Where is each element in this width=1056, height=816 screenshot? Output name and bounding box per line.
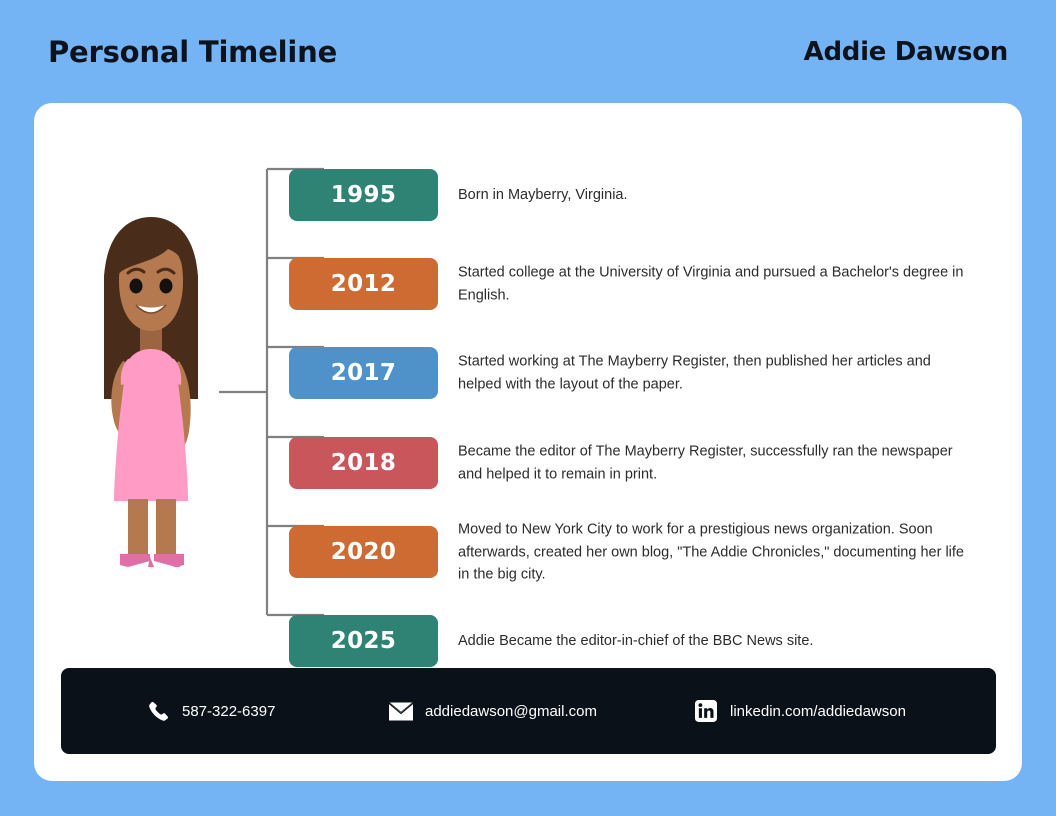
year-chip-2012[interactable]: 2012 — [289, 258, 438, 310]
year-chip-1995[interactable]: 1995 — [289, 169, 438, 221]
year-chip-2017[interactable]: 2017 — [289, 347, 438, 399]
phone-icon — [146, 699, 170, 723]
woman-illustration — [76, 209, 226, 574]
timeline-row: 2012 Started college at the University o… — [289, 258, 1009, 310]
year-label: 2020 — [331, 539, 397, 565]
contact-phone[interactable]: 587-322-6397 — [146, 699, 275, 723]
contact-email[interactable]: addiedawson@gmail.com — [389, 699, 597, 723]
timeline-row: 2018 Became the editor of The Mayberry R… — [289, 437, 1009, 489]
timeline-row: 1995 Born in Mayberry, Virginia. — [289, 169, 1009, 221]
linkedin-icon — [694, 699, 718, 723]
envelope-icon — [389, 699, 413, 723]
linkedin-value: linkedin.com/addiedawson — [730, 703, 906, 720]
author-name: Addie Dawson — [804, 37, 1008, 67]
timeline-row: 2025 Addie Became the editor-in-chief of… — [289, 615, 1009, 667]
year-chip-2025[interactable]: 2025 — [289, 615, 438, 667]
year-label: 1995 — [331, 182, 397, 208]
year-chip-2020[interactable]: 2020 — [289, 526, 438, 578]
timeline-description: Addie Became the editor-in-chief of the … — [458, 630, 978, 653]
timeline-row: 2017 Started working at The Mayberry Reg… — [289, 347, 1009, 399]
header: Personal Timeline Addie Dawson — [0, 0, 1056, 103]
year-label: 2017 — [331, 360, 397, 386]
year-label: 2018 — [331, 450, 397, 476]
phone-value: 587-322-6397 — [182, 703, 275, 720]
contact-bar: 587-322-6397 addiedawson@gmail.com linke… — [61, 668, 996, 754]
timeline-description: Started college at the University of Vir… — [458, 262, 978, 307]
year-label: 2012 — [331, 271, 397, 297]
email-value: addiedawson@gmail.com — [425, 703, 597, 720]
timeline-row: 2020 Moved to New York City to work for … — [289, 526, 1009, 578]
timeline-description: Started working at The Mayberry Register… — [458, 351, 978, 396]
contact-linkedin[interactable]: linkedin.com/addiedawson — [694, 699, 906, 723]
year-label: 2025 — [331, 628, 397, 654]
timeline-description: Moved to New York City to work for a pre… — [458, 518, 978, 586]
year-chip-2018[interactable]: 2018 — [289, 437, 438, 489]
page-title: Personal Timeline — [48, 35, 337, 69]
timeline-description: Became the editor of The Mayberry Regist… — [458, 441, 978, 486]
timeline-description: Born in Mayberry, Virginia. — [458, 184, 978, 207]
